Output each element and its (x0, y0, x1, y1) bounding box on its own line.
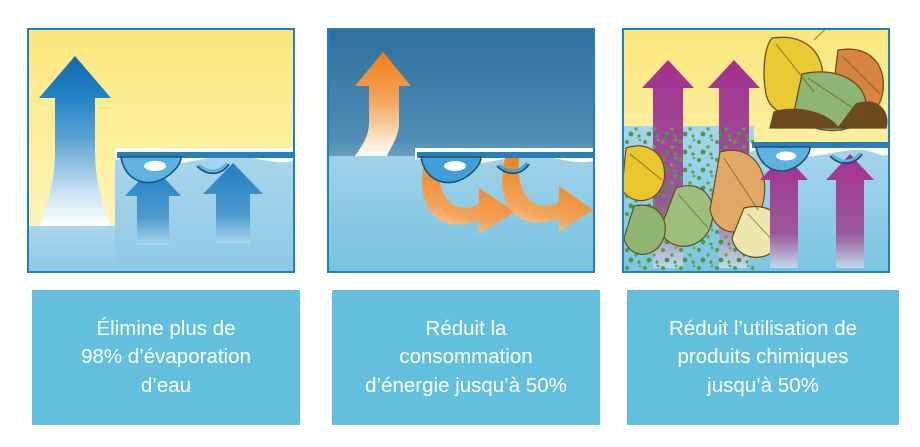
caption-text-3: Réduit l’utilisation de produits chimiqu… (669, 315, 857, 400)
infographic-board: Élimine plus de 98% d’évaporation d’eau … (0, 0, 920, 447)
energy-illustration (329, 30, 593, 271)
roller-highlight (444, 161, 466, 171)
panel-evaporation (27, 28, 295, 273)
caption-line: Élimine plus de (81, 315, 251, 343)
evaporation-illustration (29, 30, 293, 271)
caption-energy: Réduit la consommation d’énergie jusqu’à… (332, 290, 600, 425)
panel-chemicals (622, 28, 890, 273)
caption-evaporation: Élimine plus de 98% d’évaporation d’eau (32, 290, 300, 425)
caption-line: produits chimiques (669, 343, 857, 371)
caption-text-2: Réduit la consommation d’énergie jusqu’à… (365, 315, 567, 400)
roller-highlight (144, 161, 166, 171)
caption-line: jusqu’à 50% (669, 372, 857, 400)
caption-line: Réduit l’utilisation de (669, 315, 857, 343)
caption-line: d’eau (81, 372, 251, 400)
caption-line: consommation (365, 343, 567, 371)
chemicals-illustration (624, 30, 888, 271)
caption-chemicals: Réduit l’utilisation de produits chimiqu… (627, 290, 899, 425)
caption-line: Réduit la (365, 315, 567, 343)
caption-text-1: Élimine plus de 98% d’évaporation d’eau (81, 315, 251, 400)
roller-highlight (776, 152, 796, 161)
caption-line: 98% d’évaporation (81, 343, 251, 371)
caption-line: d’énergie jusqu’à 50% (365, 372, 567, 400)
panel-energy (327, 28, 595, 273)
